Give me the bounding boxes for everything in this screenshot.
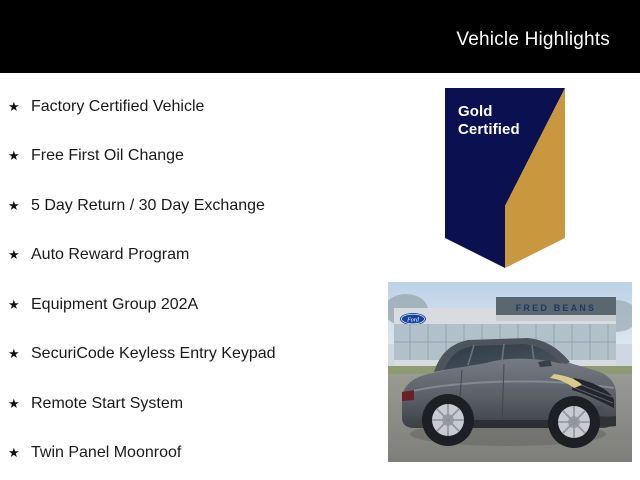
list-item: ★ Equipment Group 202A <box>8 296 198 314</box>
list-item-label: Free First Oil Change <box>22 147 184 165</box>
page-title: Vehicle Highlights <box>456 29 610 51</box>
list-item: ★ Twin Panel Moonroof <box>8 444 181 462</box>
list-item: ★ Auto Reward Program <box>8 246 189 264</box>
star-icon: ★ <box>8 147 22 165</box>
list-item-label: Remote Start System <box>22 395 183 413</box>
star-icon: ★ <box>8 296 22 314</box>
list-item-label: 5 Day Return / 30 Day Exchange <box>22 197 265 215</box>
star-icon: ★ <box>8 395 22 413</box>
gold-certified-badge: Gold Certified <box>445 88 565 268</box>
list-item-label: Equipment Group 202A <box>22 296 198 314</box>
svg-text:Ford: Ford <box>406 318 420 324</box>
badge-text-line2: Certified <box>458 121 520 139</box>
list-item-label: Twin Panel Moonroof <box>22 444 181 462</box>
vehicle-photo-graphic: FRED BEANS Ford <box>388 282 632 462</box>
vehicle-photo: FRED BEANS Ford <box>388 282 632 462</box>
list-item-label: SecuriCode Keyless Entry Keypad <box>22 345 276 363</box>
dealership-sign-text: FRED BEANS <box>516 303 597 313</box>
star-icon: ★ <box>8 246 22 264</box>
badge-text: Gold Certified <box>458 103 520 139</box>
vehicle-highlights-list: ★ Factory Certified Vehicle ★ Free First… <box>0 73 380 480</box>
ford-oval-logo: Ford <box>400 313 426 325</box>
list-item-label: Factory Certified Vehicle <box>22 98 204 116</box>
list-item: ★ Remote Start System <box>8 395 183 413</box>
list-item: ★ Factory Certified Vehicle <box>8 98 204 116</box>
star-icon: ★ <box>8 197 22 215</box>
header-banner: Vehicle Highlights <box>0 0 640 73</box>
star-icon: ★ <box>8 444 22 462</box>
star-icon: ★ <box>8 345 22 363</box>
list-item: ★ SecuriCode Keyless Entry Keypad <box>8 345 276 363</box>
star-icon: ★ <box>8 98 22 116</box>
list-item: ★ 5 Day Return / 30 Day Exchange <box>8 197 265 215</box>
list-item: ★ Free First Oil Change <box>8 147 184 165</box>
list-item-label: Auto Reward Program <box>22 246 189 264</box>
badge-text-line1: Gold <box>458 103 520 121</box>
